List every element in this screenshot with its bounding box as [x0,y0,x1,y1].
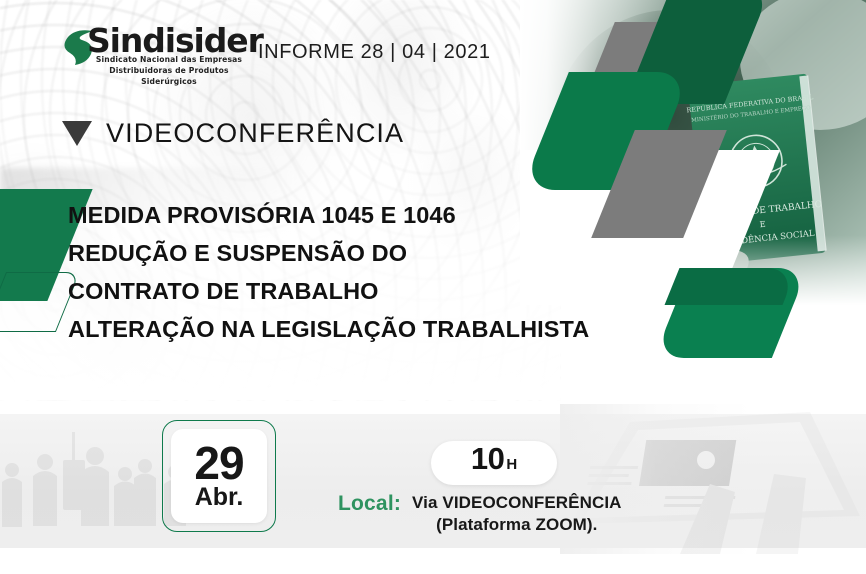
local-value-line2: (Plataforma ZOOM). [412,514,622,536]
logo-subtitle: Sindicato Nacional das Empresas Distribu… [89,55,249,87]
svg-text:E: E [759,220,766,230]
page-title: MEDIDA PROVISÓRIA 1045 E 1046 REDUÇÃO E … [68,196,668,348]
logo-wordmark: Sindisider [87,24,263,57]
logo-subtitle-line1: Sindicato Nacional das Empresas [89,55,249,66]
date-card-inner: 29 Abr. [171,429,267,523]
videoconference-kicker-label: VIDEOCONFERÊNCIA [106,118,404,149]
title-line-4: ALTERAÇÃO NA LEGISLAÇÃO TRABALHISTA [68,310,668,348]
triangle-down-icon [62,121,92,146]
informe-date: INFORME 28 | 04 | 2021 [258,41,491,64]
date-card: 29 Abr. [162,420,276,532]
date-month: Abr. [195,485,244,510]
sindisider-logo: Sindisider Sindicato Nacional das Empres… [62,26,242,78]
time-suffix: H [506,456,517,473]
title-line-3: CONTRATO DE TRABALHO [68,272,668,310]
date-day: 29 [194,442,243,484]
decor-green-parallelogram-bottom-shade [665,268,798,305]
title-line-1: MEDIDA PROVISÓRIA 1045 E 1046 [68,196,668,234]
local-value: Via VIDEOCONFERÊNCIA (Plataforma ZOOM). [412,492,622,536]
local-info: Local: Via VIDEOCONFERÊNCIA (Plataforma … [338,492,622,536]
logo-subtitle-line2: Distribuidoras de Produtos Siderúrgicos [89,66,249,88]
title-line-2: REDUÇÃO E SUSPENSÃO DO [68,234,668,272]
time-badge: 10 H [431,441,557,485]
videoconference-kicker: VIDEOCONFERÊNCIA [62,118,404,149]
local-value-line1: Via VIDEOCONFERÊNCIA [412,492,622,514]
poster-canvas: REPÚBLICA FEDERATIVA DO BRASIL MINISTÉRI… [0,0,866,574]
local-label: Local: [338,492,401,516]
time-hour: 10 [471,441,504,477]
